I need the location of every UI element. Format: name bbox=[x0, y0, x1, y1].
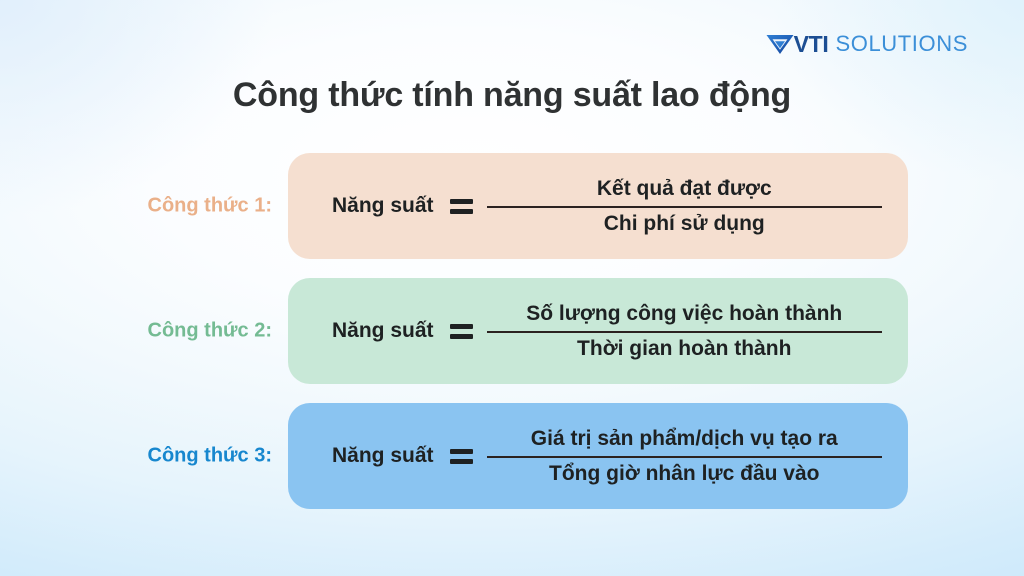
formula-label-3: Công thức 3: bbox=[0, 445, 272, 468]
fraction-2: Số lượng công việc hoàn thành Thời gian … bbox=[487, 300, 882, 362]
formula-left-term-2: Năng suất bbox=[332, 319, 434, 343]
fraction-denominator-3: Tổng giờ nhân lực đầu vào bbox=[549, 460, 819, 488]
infographic-stage: VTI SOLUTIONS Công thức tính năng suất l… bbox=[0, 0, 1024, 576]
formula-label-1: Công thức 1: bbox=[0, 195, 272, 218]
equals-sign-icon-2 bbox=[450, 324, 473, 339]
fraction-numerator-1: Kết quả đạt được bbox=[597, 175, 772, 203]
fraction-numerator-2: Số lượng công việc hoàn thành bbox=[526, 300, 842, 328]
formula-row-2: Công thức 2: Năng suất Số lượng công việ… bbox=[0, 278, 1024, 384]
fraction-bar-3 bbox=[487, 456, 882, 458]
vti-triangle-logo-icon bbox=[765, 32, 795, 56]
equals-sign-icon-1 bbox=[450, 199, 473, 214]
logo-text-vti: VTI bbox=[794, 33, 829, 56]
page-title: Công thức tính năng suất lao động bbox=[0, 76, 1024, 115]
formula-card-2: Năng suất Số lượng công việc hoàn thành … bbox=[288, 278, 908, 384]
fraction-denominator-2: Thời gian hoàn thành bbox=[577, 335, 791, 363]
formula-card-3: Năng suất Giá trị sản phẩm/dịch vụ tạo r… bbox=[288, 403, 908, 509]
formula-label-2: Công thức 2: bbox=[0, 320, 272, 343]
fraction-bar-1 bbox=[487, 206, 882, 208]
formula-card-1: Năng suất Kết quả đạt được Chi phí sử dụ… bbox=[288, 153, 908, 259]
vti-solutions-logo: VTI SOLUTIONS bbox=[765, 30, 970, 58]
fraction-denominator-1: Chi phí sử dụng bbox=[604, 210, 765, 238]
formula-row-1: Công thức 1: Năng suất Kết quả đạt được … bbox=[0, 153, 1024, 259]
fraction-3: Giá trị sản phẩm/dịch vụ tạo ra Tổng giờ… bbox=[487, 425, 882, 487]
logo-text-solutions: SOLUTIONS bbox=[835, 33, 968, 55]
formula-left-term-1: Năng suất bbox=[332, 194, 434, 218]
formula-row-3: Công thức 3: Năng suất Giá trị sản phẩm/… bbox=[0, 403, 1024, 509]
fraction-1: Kết quả đạt được Chi phí sử dụng bbox=[487, 175, 882, 237]
equals-sign-icon-3 bbox=[450, 449, 473, 464]
formula-left-term-3: Năng suất bbox=[332, 444, 434, 468]
formula-list: Công thức 1: Năng suất Kết quả đạt được … bbox=[0, 153, 1024, 509]
fraction-bar-2 bbox=[487, 331, 882, 333]
fraction-numerator-3: Giá trị sản phẩm/dịch vụ tạo ra bbox=[531, 425, 838, 453]
